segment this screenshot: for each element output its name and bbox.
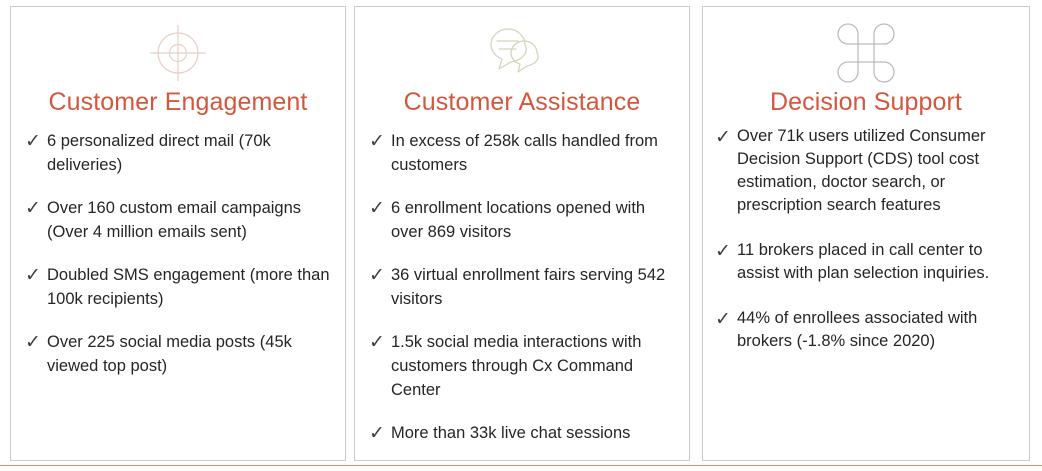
- card-title: Decision Support: [703, 87, 1029, 117]
- list-item: ✓ Over 71k users utilized Consumer Decis…: [715, 125, 1021, 217]
- list-item: ✓ 6 personalized direct mail (70k delive…: [25, 129, 335, 177]
- card-decision-support: Decision Support ✓ Over 71k users utiliz…: [702, 6, 1030, 461]
- target-crosshair-icon: [11, 19, 345, 87]
- card-title: Customer Assistance: [355, 87, 689, 117]
- check-icon: ✓: [25, 263, 47, 287]
- bullet-list: ✓ 6 personalized direct mail (70k delive…: [25, 129, 335, 397]
- list-item-text: 44% of enrollees associated with brokers…: [737, 307, 1021, 353]
- list-item: ✓ 1.5k social media interactions with cu…: [369, 330, 679, 402]
- bullet-list: ✓ In excess of 258k calls handled from c…: [369, 129, 679, 461]
- list-item-text: Over 225 social media posts (45k viewed …: [47, 330, 335, 378]
- check-icon: ✓: [715, 125, 737, 149]
- list-item-text: Doubled SMS engagement (more than 100k r…: [47, 263, 335, 311]
- check-icon: ✓: [369, 263, 391, 287]
- bottom-divider: [0, 465, 1042, 466]
- list-item-text: 6 enrollment locations opened with over …: [391, 196, 679, 244]
- card-title: Customer Engagement: [11, 87, 345, 117]
- check-icon: ✓: [369, 421, 391, 445]
- check-icon: ✓: [25, 129, 47, 153]
- check-icon: ✓: [369, 196, 391, 220]
- command-loop-icon: [703, 19, 1029, 87]
- check-icon: ✓: [715, 307, 737, 331]
- list-item-text: 6 personalized direct mail (70k deliveri…: [47, 129, 335, 177]
- list-item: ✓ Over 160 custom email campaigns (Over …: [25, 196, 335, 244]
- list-item-text: 36 virtual enrollment fairs serving 542 …: [391, 263, 679, 311]
- check-icon: ✓: [25, 196, 47, 220]
- card-customer-assistance: Customer Assistance ✓ In excess of 258k …: [354, 6, 690, 461]
- list-item-text: Over 160 custom email campaigns (Over 4 …: [47, 196, 335, 244]
- bullet-list: ✓ Over 71k users utilized Consumer Decis…: [715, 125, 1021, 375]
- list-item: ✓ 44% of enrollees associated with broke…: [715, 307, 1021, 353]
- list-item: ✓ In excess of 258k calls handled from c…: [369, 129, 679, 177]
- list-item-text: In excess of 258k calls handled from cus…: [391, 129, 679, 177]
- list-item-text: 1.5k social media interactions with cust…: [391, 330, 679, 402]
- list-item-text: More than 33k live chat sessions: [391, 421, 679, 445]
- three-column-highlights-board: Customer Engagement ✓ 6 personalized dir…: [0, 0, 1042, 471]
- check-icon: ✓: [369, 129, 391, 153]
- list-item-text: 11 brokers placed in call center to assi…: [737, 239, 1021, 285]
- list-item-text: Over 71k users utilized Consumer Decisio…: [737, 125, 1021, 217]
- check-icon: ✓: [369, 330, 391, 354]
- list-item: ✓ 11 brokers placed in call center to as…: [715, 239, 1021, 285]
- list-item: ✓ Over 225 social media posts (45k viewe…: [25, 330, 335, 378]
- list-item: ✓ 6 enrollment locations opened with ove…: [369, 196, 679, 244]
- list-item: ✓ Doubled SMS engagement (more than 100k…: [25, 263, 335, 311]
- card-customer-engagement: Customer Engagement ✓ 6 personalized dir…: [10, 6, 346, 461]
- check-icon: ✓: [715, 239, 737, 263]
- speech-bubbles-icon: [355, 19, 689, 87]
- list-item: ✓ 36 virtual enrollment fairs serving 54…: [369, 263, 679, 311]
- list-item: ✓ More than 33k live chat sessions: [369, 421, 679, 445]
- check-icon: ✓: [25, 330, 47, 354]
